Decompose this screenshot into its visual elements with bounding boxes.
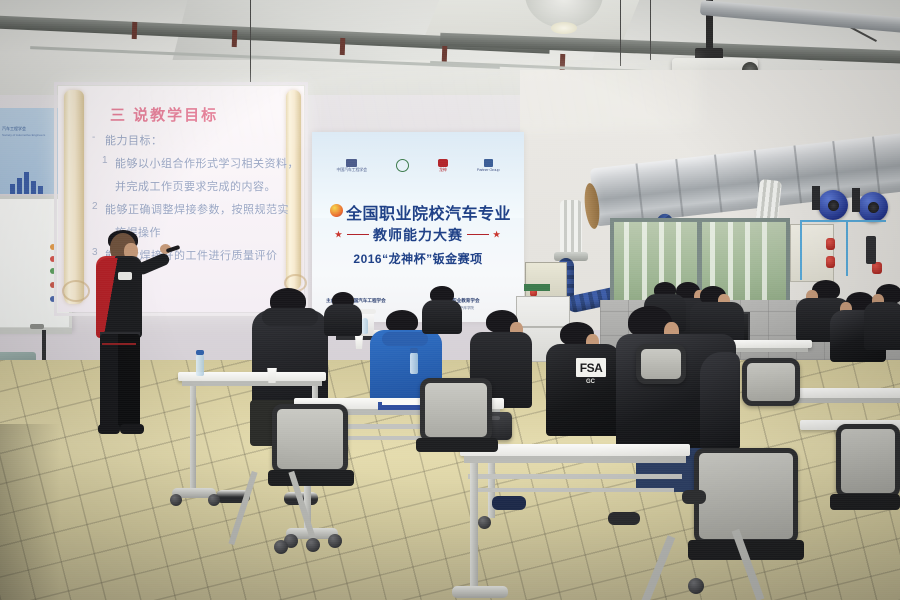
office-chair-back[interactable] — [742, 358, 800, 406]
slide-line-num — [102, 178, 111, 194]
banner-logo-china-sae: 中国汽车工程学会 — [336, 159, 366, 172]
chair-armrest[interactable] — [682, 490, 706, 504]
office-chair-back[interactable] — [272, 404, 348, 474]
presenter-trousers — [100, 334, 140, 428]
audience-body — [864, 302, 900, 350]
banner-title-line1: 全国职业院校汽车专业 — [346, 200, 511, 224]
slide-line: 并完成工作页要求完成的内容。 — [92, 178, 307, 194]
office-chair-back[interactable] — [420, 378, 492, 442]
presenter-badge — [118, 272, 132, 280]
office-chair-seat[interactable] — [830, 494, 900, 510]
pendant-lamp-bulb-icon — [551, 22, 577, 34]
desk-caster — [328, 534, 342, 548]
banner-emblem-icon — [330, 204, 343, 217]
blue-jacket-collar — [382, 332, 428, 346]
slide-line-text: 能够正确调整焊接参数，按照规范实 — [105, 201, 289, 217]
audience-body — [324, 304, 362, 336]
hose-reel-hub-icon — [828, 200, 839, 211]
banner-title-line2: ★教师能力大赛★ — [312, 225, 524, 245]
poster-line-1: 汽车工程学会 — [2, 126, 26, 132]
whiteboard-eraser[interactable] — [30, 324, 44, 329]
office-chair-back[interactable] — [836, 424, 900, 498]
banner-title-line3: 2016“龙神杯”钣金赛项 — [312, 250, 524, 267]
slide-decor-ring — [62, 280, 90, 302]
blue-pipe — [846, 220, 848, 276]
slide-line-text: 能够以小组合作形式学习相关资料， — [115, 155, 299, 171]
blue-pipe — [800, 220, 802, 280]
presenter-shoe — [98, 424, 120, 434]
banner-star-icon: ★ — [335, 230, 343, 239]
desk-edge — [464, 456, 686, 463]
banner-star-icon: ★ — [493, 230, 501, 239]
desk-support-rail — [468, 474, 682, 479]
rail-hanger-icon — [232, 30, 238, 47]
hoodie-collar — [262, 308, 318, 326]
audience-shoe — [608, 512, 640, 525]
cabinet-split-line — [516, 326, 568, 328]
blue-pipe — [800, 220, 886, 222]
office-chair-back[interactable] — [636, 344, 686, 384]
bottle-cap-icon — [196, 350, 204, 355]
desk-caster — [170, 494, 182, 506]
poster-bar-graphic — [8, 172, 48, 194]
bottle-cap-icon — [410, 348, 418, 353]
jacket-print-main: FSA — [580, 361, 603, 375]
desk-foot — [452, 586, 508, 598]
chair-caster — [688, 578, 704, 594]
hanging-wire — [650, 0, 651, 60]
banner-logo-circle — [396, 159, 409, 173]
office-chair-back[interactable] — [694, 448, 798, 544]
slide-line-num: - — [92, 132, 101, 148]
classroom-photo-scene: 汽车工程学会 Society of Automotive Engineers 师… — [0, 0, 900, 600]
hanging-wire — [620, 0, 621, 66]
banner-rule — [467, 234, 489, 235]
desk-leg — [190, 386, 196, 490]
water-bottle — [362, 318, 368, 334]
desk-edge — [182, 381, 322, 386]
audience-body — [422, 300, 462, 334]
rail-hanger-icon — [132, 22, 138, 39]
red-valve-icon — [826, 256, 835, 268]
slide-bamboo-decor-left — [64, 90, 84, 304]
hanging-wire — [250, 0, 251, 84]
banner-rule — [347, 234, 369, 235]
slide-line: 2能够正确调整焊接参数，按照规范实 — [92, 201, 307, 217]
banner-logo-row: 中国汽车工程学会 龙神 Partner Group — [322, 155, 514, 177]
desk-caster — [478, 516, 491, 529]
banner-logo-longshen: 龙神 — [438, 159, 448, 172]
slide-line-num: 2 — [92, 201, 101, 217]
presenter-shoe — [120, 424, 144, 434]
office-chair-seat[interactable] — [268, 470, 354, 486]
water-bottle — [196, 354, 204, 376]
wall-device — [866, 236, 876, 264]
flexible-duct-left — [560, 200, 582, 258]
jacket-print-sub: GC — [586, 379, 595, 385]
slide-line-text: 并完成工作页要求完成的内容。 — [115, 178, 276, 194]
red-valve-icon — [826, 238, 835, 250]
reel-bracket — [852, 188, 860, 212]
banner-logo-partner: Partner Group — [477, 159, 500, 172]
green-sign-label — [524, 284, 550, 291]
trouser-stripe — [102, 343, 136, 345]
audience-shoe — [492, 496, 526, 510]
electrical-control-panel — [790, 224, 834, 282]
slide-line: 1能够以小组合作形式学习相关资料， — [92, 155, 307, 171]
desk-leg — [470, 463, 478, 589]
jacket-print-patch: FSA — [576, 358, 606, 377]
slide-line-num: 1 — [102, 155, 111, 171]
hose-reel-hub-icon — [868, 202, 879, 213]
floor-shadow-left — [0, 424, 60, 600]
rail-hanger-icon — [340, 38, 346, 55]
desk-caster — [208, 494, 220, 506]
chair-caster — [274, 540, 288, 554]
puffer-hood — [700, 352, 740, 450]
chair-caster — [306, 538, 320, 552]
office-chair-seat[interactable] — [416, 438, 498, 452]
presenter-jacket — [96, 258, 142, 338]
reel-bracket — [812, 186, 820, 210]
water-bottle — [410, 352, 418, 374]
banner-title-line2-text: 教师能力大赛 — [373, 227, 463, 243]
poster-line-2: Society of Automotive Engineers — [2, 133, 45, 137]
desk-support-rail — [476, 488, 674, 492]
